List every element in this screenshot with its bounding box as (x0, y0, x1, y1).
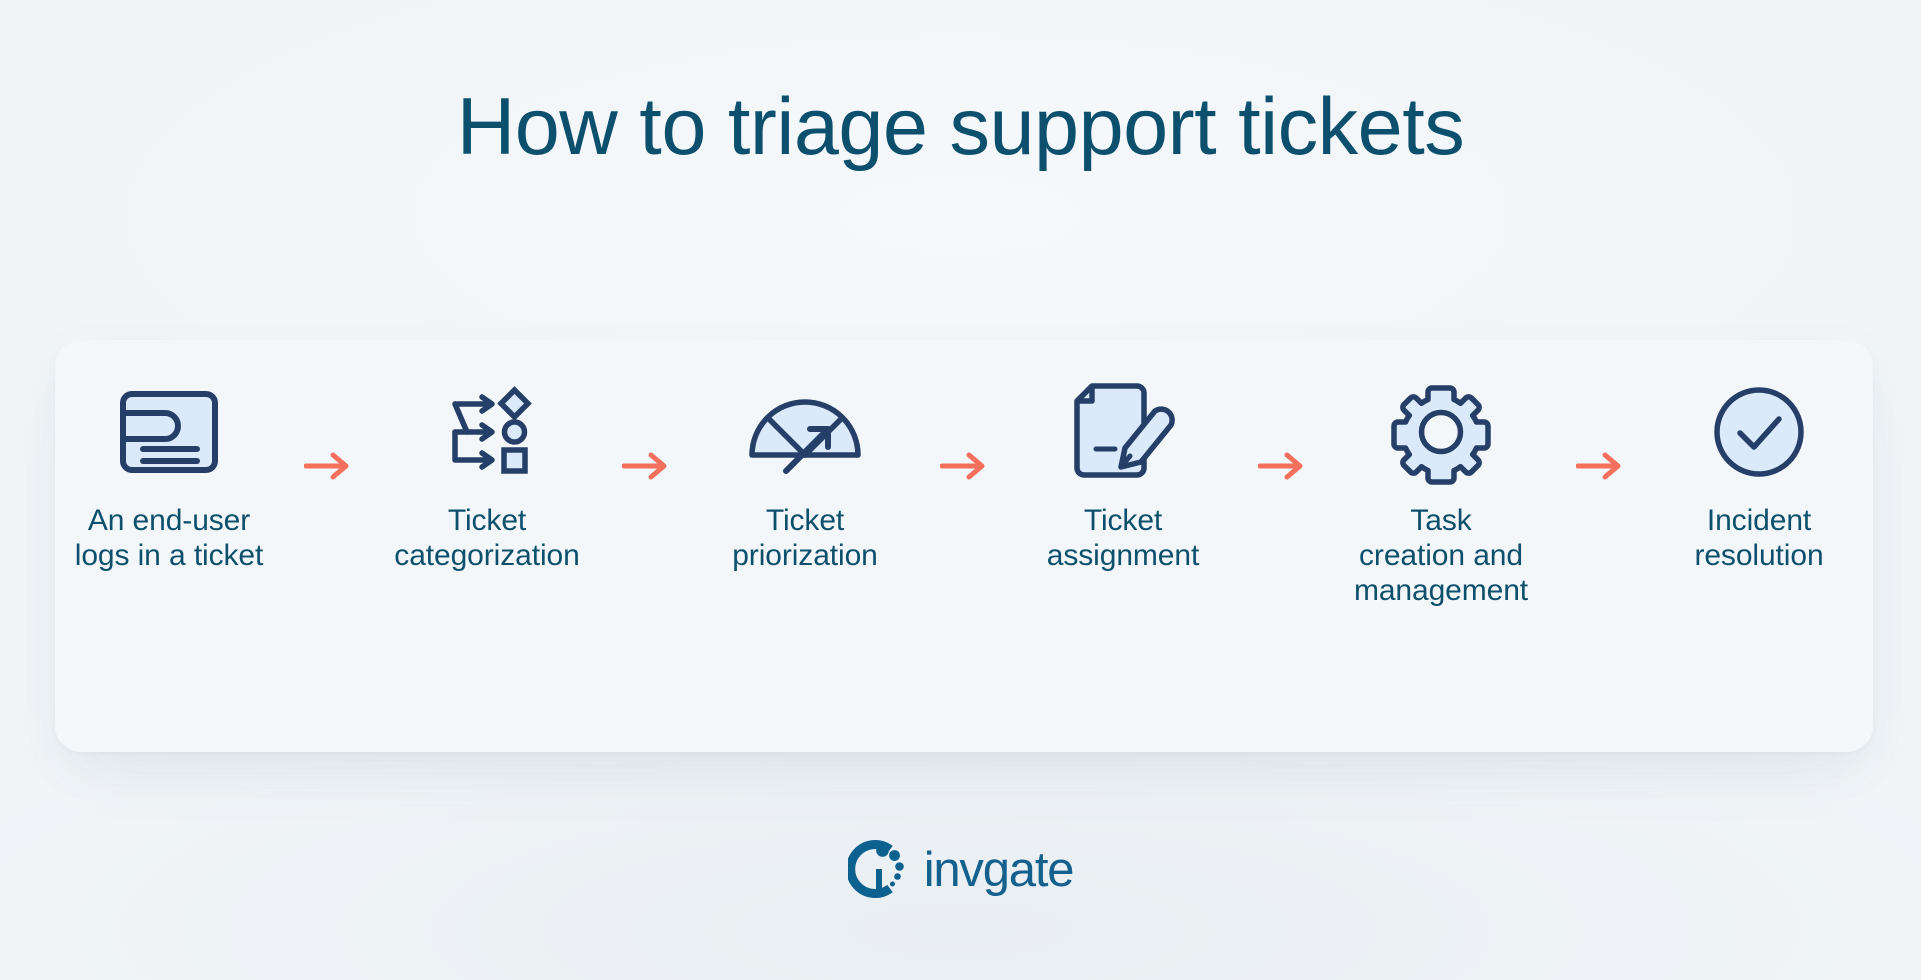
brand-logo: invgate (0, 838, 1921, 900)
flow-step-label: Ticket priorization (732, 504, 878, 574)
branching-arrows-shapes-icon (369, 374, 605, 490)
flow-step-label: An end-user logs in a ticket (75, 504, 264, 574)
flow-step-1: An end-user logs in a ticket (51, 374, 287, 574)
gauge-meter-icon (687, 374, 923, 490)
flow-step-4: Ticket assignment (1005, 374, 1241, 574)
flow-step-label: Ticket assignment (1047, 504, 1199, 574)
flow-panel: An end-user logs in a ticket (55, 340, 1873, 752)
flow-steps-row: An end-user logs in a ticket (55, 340, 1873, 752)
invgate-logo-mark (848, 838, 910, 900)
flow-step-label: Ticket categorization (394, 504, 579, 574)
arrow-right-icon (923, 408, 1005, 524)
ticket-card-icon (51, 374, 287, 490)
page-title: How to triage support tickets (0, 84, 1921, 171)
flow-step-6: Incident resolution (1641, 374, 1877, 574)
flow-step-label: Incident resolution (1694, 504, 1823, 574)
arrow-right-icon (605, 408, 687, 524)
gear-icon (1323, 374, 1559, 490)
arrow-right-icon (287, 408, 369, 524)
flow-step-5: Task creation and management (1323, 374, 1559, 608)
flow-step-2: Ticket categorization (369, 374, 605, 574)
check-circle-icon (1641, 374, 1877, 490)
document-pencil-icon (1005, 374, 1241, 490)
arrow-right-icon (1241, 408, 1323, 524)
brand-name: invgate (924, 846, 1074, 895)
flow-step-label: Task creation and management (1354, 504, 1528, 608)
flow-step-3: Ticket priorization (687, 374, 923, 574)
arrow-right-icon (1559, 408, 1641, 524)
